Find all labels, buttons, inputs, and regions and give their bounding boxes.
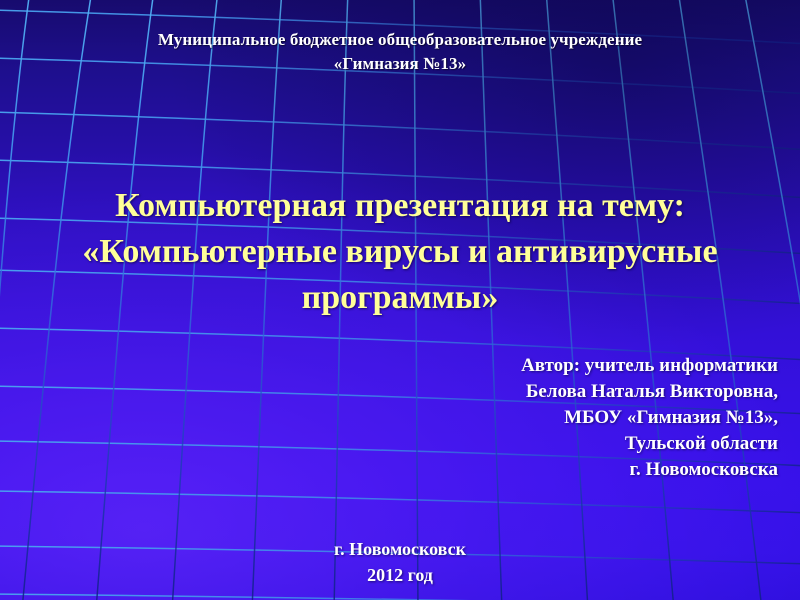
author-line5: г. Новомосковска <box>218 457 778 483</box>
author-line3: МБОУ «Гимназия №13», <box>218 405 778 431</box>
slide-title-line3: программы» <box>20 275 780 321</box>
slide-footer: г. Новомосковск 2012 год <box>0 536 800 588</box>
presentation-slide: Муниципальное бюджетное общеобразователь… <box>0 0 800 600</box>
slide-text-layer: Муниципальное бюджетное общеобразователь… <box>0 0 800 600</box>
slide-title-line1: Компьютерная презентация на тему: <box>20 183 780 229</box>
author-line2: Белова Наталья Викторовна, <box>218 379 778 405</box>
slide-title: Компьютерная презентация на тему: «Компь… <box>20 183 780 321</box>
footer-year: 2012 год <box>0 562 800 588</box>
school-header: Муниципальное бюджетное общеобразователь… <box>0 28 800 76</box>
author-credits: Автор: учитель информатики Белова Наталь… <box>218 353 778 483</box>
school-header-line2: «Гимназия №13» <box>0 52 800 76</box>
school-header-line1: Муниципальное бюджетное общеобразователь… <box>0 28 800 52</box>
author-line1: Автор: учитель информатики <box>218 353 778 379</box>
author-line4: Тульской области <box>218 431 778 457</box>
slide-title-line2: «Компьютерные вирусы и антивирусные <box>20 229 780 275</box>
footer-city: г. Новомосковск <box>0 536 800 562</box>
